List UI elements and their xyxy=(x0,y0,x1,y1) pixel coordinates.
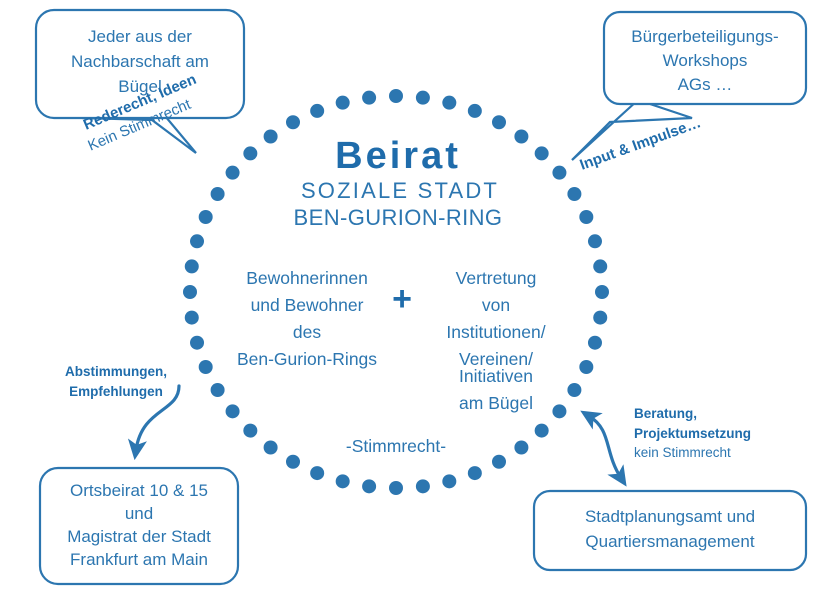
annotation-beratung: Beratung, Projektumsetzung kein Stimmrec… xyxy=(634,406,751,460)
member-group-institutions-line-3: Institutionen/ xyxy=(446,322,545,342)
annotation-beratung-line-3: kein Stimmrecht xyxy=(634,445,731,460)
annotation-abstimmungen: Abstimmungen, Empfehlungen xyxy=(65,364,167,399)
member-group-institutions-line-5: Initiativen xyxy=(459,366,533,386)
annotation-abstimmungen-line-1: Abstimmungen, xyxy=(65,364,167,379)
annotation-beratung-line-1: Beratung, xyxy=(634,406,697,421)
member-group-residents-line-3: des xyxy=(293,322,321,342)
annotation-abstimmungen-line-2: Empfehlungen xyxy=(69,384,163,399)
member-group-institutions-line-6: am Bügel xyxy=(459,393,533,413)
member-group-institutions-line-1: Vertretung xyxy=(456,268,537,288)
member-group-residents-line-1: Bewohnerinnen xyxy=(246,268,368,288)
annotation-input-impulse: Input & Impulse… xyxy=(578,114,704,174)
page-title: Beirat xyxy=(335,135,461,177)
annotation-rederecht: Rederecht, Ideen Kein Stimmrecht xyxy=(77,71,207,155)
annotation-input-impulse-bold: Input & Impulse… xyxy=(578,114,704,174)
member-group-residents: Bewohnerinnen und Bewohner des Ben-Gurio… xyxy=(237,268,377,369)
text-layer: Beirat SOZIALE STADT BEN-GURION-RING Bew… xyxy=(0,0,820,600)
plus-sign: + xyxy=(392,280,412,318)
member-group-residents-line-4: Ben-Gurion-Rings xyxy=(237,349,377,369)
member-group-institutions: Vertretung von Institutionen/ Vereinen/ … xyxy=(446,268,545,413)
voting-rights-note: -Stimmrecht- xyxy=(346,436,446,456)
page-subtitle-2: BEN-GURION-RING xyxy=(294,205,503,230)
annotation-beratung-line-2: Projektumsetzung xyxy=(634,426,751,441)
member-group-institutions-line-2: von xyxy=(482,295,510,315)
member-group-residents-line-2: und Bewohner xyxy=(251,295,364,315)
diagram-canvas: Jeder aus der Nachbarschaft am Bügel Bür… xyxy=(0,0,820,600)
page-subtitle-1: SOZIALE STADT xyxy=(301,178,499,203)
